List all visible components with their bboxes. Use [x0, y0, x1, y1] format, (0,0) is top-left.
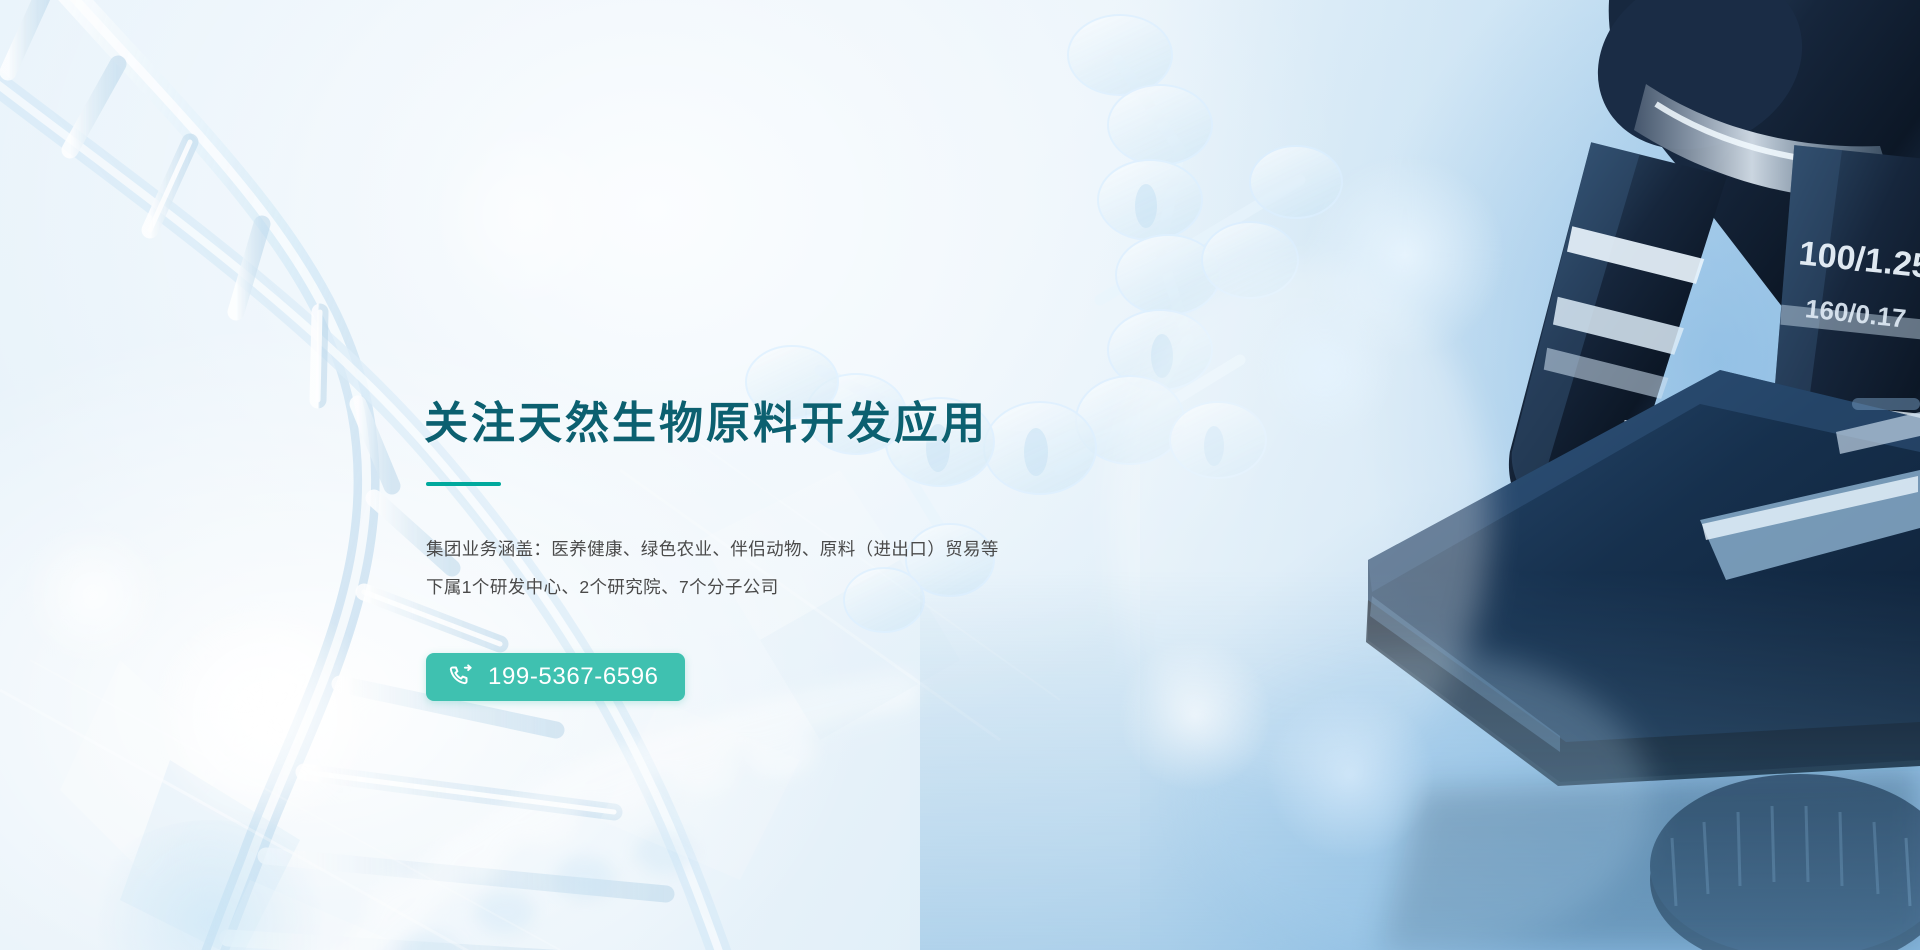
objective-lens-secondary: 100/1.25 160/0.17 100	[1745, 145, 1920, 633]
hero-description-line-1: 集团业务涵盖：医养健康、绿色农业、伴侣动物、原料（进出口）贸易等	[426, 530, 1226, 568]
phone-outgoing-icon	[448, 664, 474, 690]
bokeh-highlight	[1300, 150, 1510, 360]
phone-cta-button[interactable]: 199-5367-6596	[426, 653, 685, 701]
objective-marking-40: 40	[1615, 420, 1643, 448]
focus-knob	[1650, 774, 1920, 950]
objective-marking-100-125: 100/1.25	[1797, 234, 1920, 286]
hero-description-line-2: 下属1个研发中心、2个研究院、7个分子公司	[426, 568, 1226, 606]
microscope-turret	[1569, 0, 1920, 330]
objective-lens-main: 40	[1492, 141, 1727, 559]
bokeh-highlight	[150, 600, 380, 830]
objective-marking-160-017: 160/0.17	[1804, 293, 1908, 333]
bokeh-highlight	[80, 820, 340, 950]
microscope-stage	[1366, 370, 1920, 786]
objective-marking-100: 100	[1805, 392, 1851, 426]
hero-headline: 关注天然生物原料开发应用	[424, 398, 988, 450]
microscope: 40 100/1.25 160/0.17 100	[1366, 0, 1920, 950]
headline-divider	[426, 482, 501, 486]
hero-banner: 40 100/1.25 160/0.17 100	[0, 0, 1920, 950]
phone-number-label: 199-5367-6596	[488, 665, 659, 689]
bokeh-highlight	[18, 520, 168, 670]
hero-content: 关注天然生物原料开发应用 集团业务涵盖：医养健康、绿色农业、伴侣动物、原料（进出…	[424, 0, 1324, 950]
hero-description: 集团业务涵盖：医养健康、绿色农业、伴侣动物、原料（进出口）贸易等 下属1个研发中…	[426, 530, 1226, 606]
